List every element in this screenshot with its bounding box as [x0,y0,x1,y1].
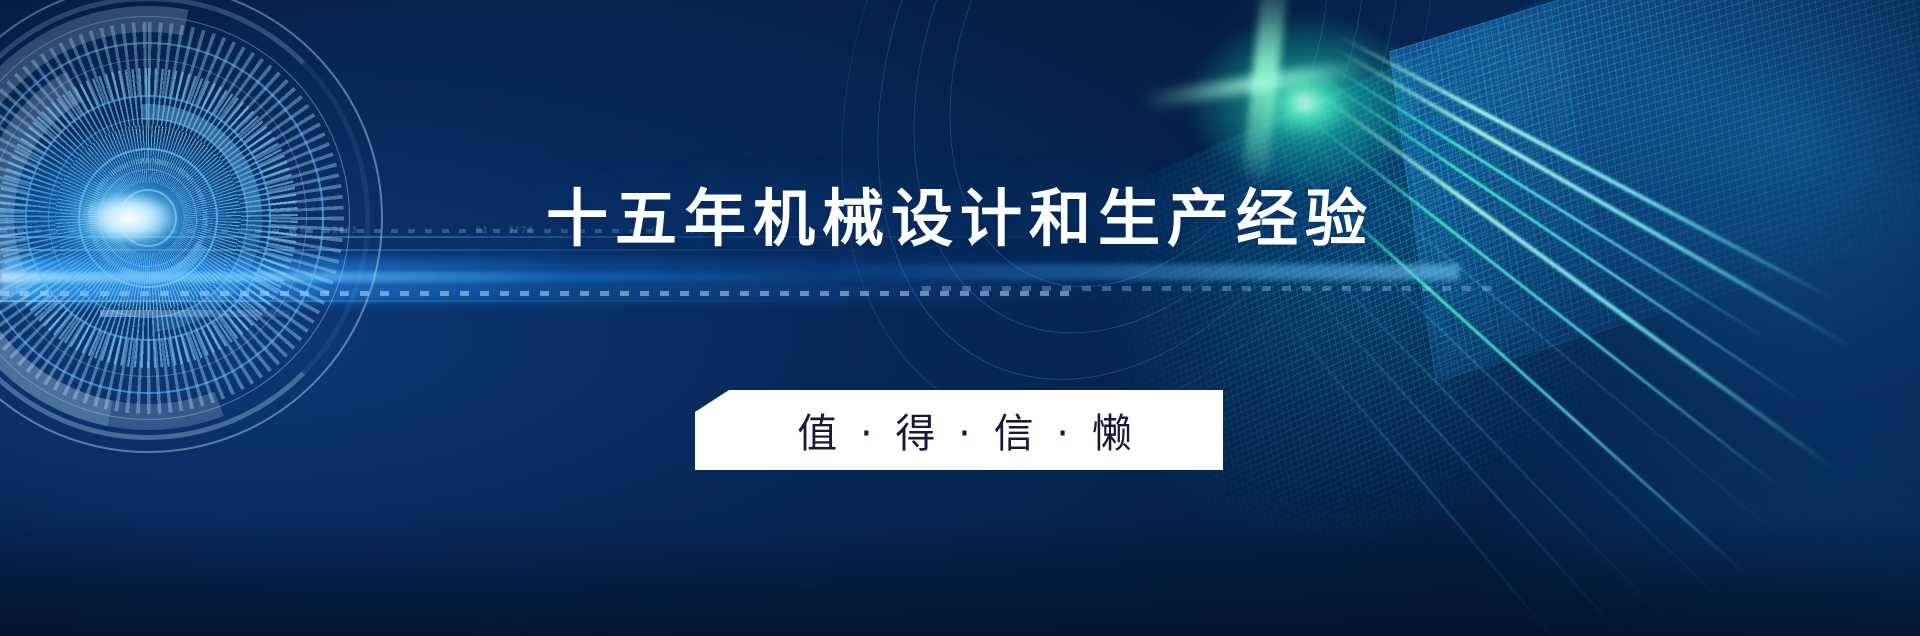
hero-banner: 00 . 2803 01 . 3274 02 . 3548 03 . 3486 … [0,0,1920,636]
page-title: 十五年机械设计和生产经验 [0,168,1920,258]
subtitle-plaque: 值 · 得 · 信 · 懒 [695,390,1223,470]
bottom-fade-overlay [0,516,1920,636]
subtitle-text: 值 · 得 · 信 · 懒 [695,390,1223,470]
